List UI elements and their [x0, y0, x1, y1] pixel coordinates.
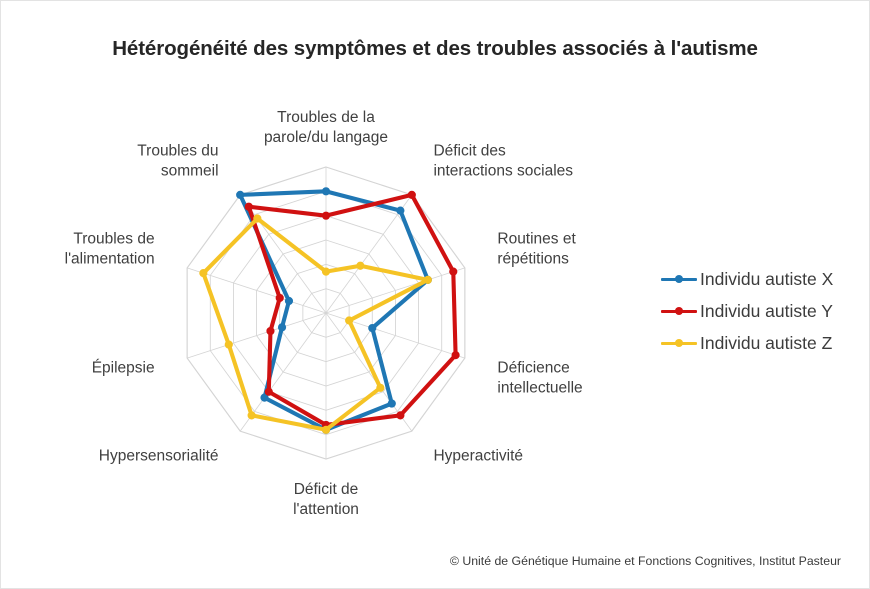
legend-item[interactable]: Individu autiste Y: [661, 295, 867, 327]
series-marker: [254, 215, 261, 222]
series-marker: [397, 412, 404, 419]
legend-marker: [675, 339, 683, 347]
axis-label: Épilepsie: [92, 359, 155, 376]
series-line: [203, 219, 427, 430]
series-marker: [322, 212, 329, 219]
line-marker-icon: [661, 304, 697, 318]
legend-marker: [675, 275, 683, 283]
radar-chart-area: Troubles de laparole/du langageDéficit d…: [1, 1, 651, 561]
series-marker: [397, 207, 404, 214]
series-marker: [265, 388, 272, 395]
series-marker: [322, 268, 329, 275]
series-marker: [424, 276, 431, 283]
axis-label: Troubles del'alimentation: [65, 231, 155, 268]
series-marker: [450, 268, 457, 275]
axis-label: Troubles dusommeil: [137, 143, 218, 180]
series-marker: [322, 188, 329, 195]
series-marker: [248, 412, 255, 419]
series-marker: [237, 191, 244, 198]
chart-page: Hétérogénéité des symptômes et des troub…: [0, 0, 870, 589]
radar-series-3: [200, 215, 432, 433]
legend-item[interactable]: Individu autiste X: [661, 263, 867, 295]
series-marker: [388, 400, 395, 407]
series-marker: [369, 324, 376, 331]
series-marker: [408, 191, 415, 198]
radar-series-2: [245, 191, 459, 428]
legend-item-label: Individu autiste Y: [700, 301, 833, 322]
series-marker: [346, 317, 353, 324]
series-marker: [200, 270, 207, 277]
series-marker: [276, 294, 283, 301]
axis-label: Routines etrépétitions: [497, 231, 576, 268]
legend-item-label: Individu autiste Z: [700, 333, 832, 354]
credit-text: © Unité de Génétique Humaine et Fonction…: [450, 554, 841, 568]
series-marker: [278, 324, 285, 331]
axis-label: Hypersensorialité: [99, 447, 219, 464]
axis-label: Hyperactivité: [433, 447, 523, 464]
series-marker: [357, 262, 364, 269]
legend-marker: [675, 307, 683, 315]
legend-item[interactable]: Individu autiste Z: [661, 327, 867, 359]
axis-label: Troubles de laparole/du langage: [264, 109, 388, 146]
legend-item-label: Individu autiste X: [700, 269, 833, 290]
line-marker-icon: [661, 272, 697, 286]
axis-label: Déficit desinteractions sociales: [433, 143, 573, 180]
series-marker: [322, 426, 329, 433]
series-marker: [267, 327, 274, 334]
radar-chart-svg: Troubles de laparole/du langageDéficit d…: [1, 1, 651, 561]
radar-series: [200, 188, 459, 434]
chart-legend: Individu autiste X Individu autiste Y In…: [661, 263, 867, 359]
axis-label: Déficit del'attention: [293, 481, 359, 518]
series-marker: [225, 341, 232, 348]
line-marker-icon: [661, 336, 697, 350]
series-marker: [245, 203, 252, 210]
axis-label: Déficienceintellectuelle: [497, 359, 582, 396]
series-marker: [285, 297, 292, 304]
series-marker: [452, 352, 459, 359]
series-marker: [377, 384, 384, 391]
